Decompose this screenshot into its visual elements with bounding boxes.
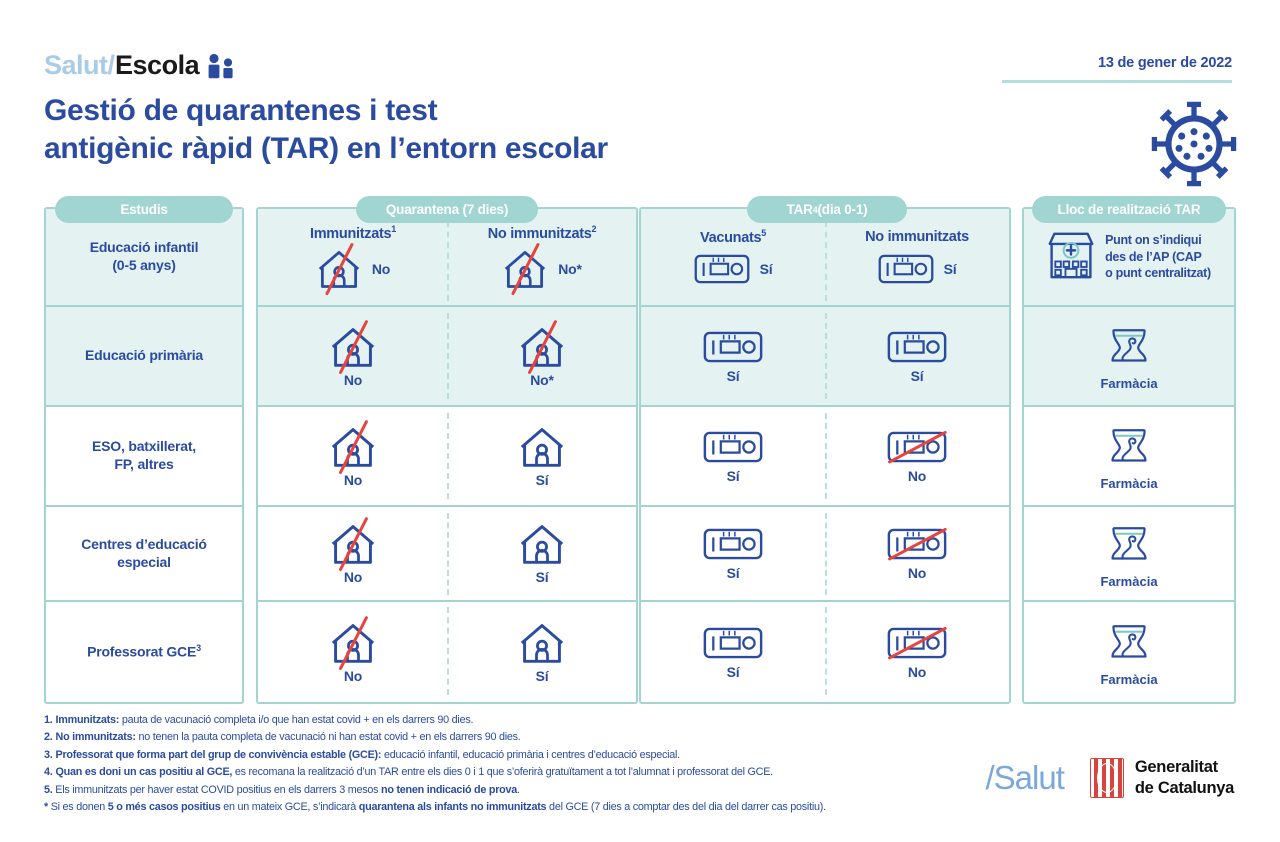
answer-text: No* — [558, 261, 582, 277]
footnote-1: 1.Immunitzats: pauta de vacunació comple… — [44, 712, 924, 729]
place-text-line1: Punt on s’indiqui — [1105, 232, 1211, 249]
row-divider — [641, 405, 1009, 407]
answer-text: No — [344, 472, 362, 488]
answer-text: Sí — [727, 468, 740, 484]
cell-quarantine-non-immunised: Sí — [448, 602, 636, 702]
cell-place: Farmàcia — [1024, 507, 1234, 600]
health-centre-icon — [1047, 229, 1095, 286]
cell-quarantine-non-immunised: Sí — [448, 407, 636, 505]
answer-text: Sí — [911, 368, 924, 384]
column-divider — [447, 413, 449, 499]
column-divider — [447, 313, 449, 399]
house-person-crossed-icon — [329, 425, 377, 469]
cell-study: Centres d’educació especial — [46, 507, 242, 600]
row-divider — [1024, 305, 1234, 307]
date-divider — [1002, 80, 1232, 83]
date-block: 13 de gener de 2022 — [1002, 55, 1232, 83]
answer-text: Sí — [727, 368, 740, 384]
generalitat-line1: Generalitat — [1135, 757, 1234, 778]
column-divider — [825, 313, 827, 399]
house-person-icon — [518, 621, 566, 665]
brand-logo: Salut / Escola — [44, 50, 236, 81]
answer-text: No — [344, 372, 362, 388]
place-text: Punt on s’indiqui des de l’AP (CAP o pun… — [1105, 232, 1211, 282]
table-row: Centres d’educació especial No — [44, 507, 1236, 600]
row-divider — [258, 405, 636, 407]
footnote-asterisk-bold-tail: quarantena als infants no immunitzats — [359, 801, 547, 813]
pharmacy-icon — [1107, 321, 1151, 372]
page-title-line1: Gestió de quarantenes i test — [44, 92, 608, 130]
antigen-test-icon — [703, 526, 763, 562]
antigen-test-crossed-icon — [887, 625, 947, 661]
answer-text: No — [908, 468, 926, 484]
antigen-test-icon: Sí — [878, 252, 957, 286]
cell-quarantine-non-immunised: No immunitzats2 No* — [448, 209, 636, 305]
pharmacy-icon — [1107, 519, 1151, 570]
footnote-1-bold: Immunitzats: — [56, 714, 120, 726]
page-header: Salut / Escola Gestió de quarantenes i t… — [0, 0, 1280, 190]
column-divider — [447, 607, 449, 695]
coronavirus-icon — [1150, 100, 1238, 193]
cell-study: Professorat GCE3 — [46, 602, 242, 702]
row-divider — [46, 305, 242, 307]
column-header-vacunats-label: Vacunats — [700, 229, 761, 245]
column-divider — [825, 607, 827, 695]
table-row: Educació primària No — [44, 307, 1236, 405]
page-title-line2: antigènic ràpid (TAR) en l’entorn escola… — [44, 130, 608, 168]
generalitat-text: Generalitat de Catalunya — [1135, 757, 1234, 799]
cell-tar-vaccinated: Sí — [641, 507, 825, 600]
row-divider — [1024, 505, 1234, 507]
footnote-3-text: educació infantil, educació primària i c… — [381, 749, 680, 761]
pharmacy-icon — [1107, 421, 1151, 472]
footnote-4-text: es recomana la realització d’un TAR entr… — [232, 766, 773, 778]
column-header-vacunats-sup: 5 — [761, 228, 766, 238]
antigen-test-crossed-icon — [887, 526, 947, 562]
brand-salut-text: Salut — [44, 50, 108, 81]
column-divider — [447, 513, 449, 595]
answer-text: Sí — [536, 569, 549, 585]
answer-text: Sí — [944, 261, 957, 277]
cell-tar-vaccinated: Sí — [641, 407, 825, 505]
footnote-asterisk-text-mid: en un mateix GCE, s’indicarà — [220, 801, 358, 813]
brand-slash: / — [108, 50, 116, 81]
cell-place: Farmàcia — [1024, 602, 1234, 702]
study-label-line1: ESO, batxillerat, — [92, 438, 196, 454]
group-pill-tar-tail: (dia 0-1) — [818, 202, 868, 217]
footnote-5-text: Els immunitzats per haver estat COVID po… — [53, 784, 381, 796]
answer-text: Sí — [536, 668, 549, 684]
table-row: Educació infantil (0-5 anys) Immunitzats… — [44, 209, 1236, 305]
study-label: Educació primària — [85, 347, 203, 365]
house-person-crossed-icon — [518, 325, 566, 369]
cell-tar-non-immunised: No — [825, 507, 1009, 600]
column-header-vacunats: Vacunats5 — [700, 228, 766, 246]
study-label-sup: 3 — [196, 643, 201, 653]
house-person-crossed-icon: No* — [502, 248, 582, 290]
quarantine-table: Estudis Quarantena (7 dies) TAR4 (dia 0-… — [44, 207, 1236, 704]
brand-escola-text: Escola — [115, 50, 199, 81]
footnote-2-num: 2. — [44, 731, 53, 743]
footnote-3: 3.Professorat que forma part del grup de… — [44, 747, 924, 764]
footnote-5-text-tail: . — [517, 784, 520, 796]
column-header-no-immunitzats-label: No immunitzats — [488, 225, 592, 241]
row-divider — [1024, 600, 1234, 602]
footnotes: 1.Immunitzats: pauta de vacunació comple… — [44, 712, 924, 817]
generalitat-logo: Generalitat de Catalunya — [1090, 757, 1234, 799]
answer-text: No* — [530, 372, 554, 388]
house-person-crossed-icon — [329, 621, 377, 665]
pharmacy-label: Farmàcia — [1100, 574, 1157, 589]
footnote-asterisk-text-tail: del GCE (7 dies a comptar des del dia de… — [546, 801, 826, 813]
cell-tar-non-immunised: No — [825, 602, 1009, 702]
cell-tar-vaccinated: Sí — [641, 307, 825, 405]
group-pill-quarantena: Quarantena (7 dies) — [356, 196, 538, 223]
group-pill-tar: TAR4 (dia 0-1) — [747, 196, 907, 223]
table-row: ESO, batxillerat, FP, altres No — [44, 407, 1236, 505]
answer-text: Sí — [727, 565, 740, 581]
footnote-3-num: 3. — [44, 749, 53, 761]
answer-text: No — [908, 664, 926, 680]
cell-quarantine-non-immunised: Sí — [448, 507, 636, 600]
cell-place: Farmàcia — [1024, 407, 1234, 505]
house-person-icon — [518, 425, 566, 469]
footnote-2: 2.No immunitzats: no tenen la pauta comp… — [44, 729, 924, 746]
antigen-test-icon — [703, 329, 763, 365]
study-label-line1: Centres d’educació — [81, 536, 207, 552]
house-person-crossed-icon — [329, 325, 377, 369]
footnote-5-num: 5. — [44, 784, 53, 796]
footnote-asterisk-bold-mid: 5 o més casos positius — [108, 801, 221, 813]
row-divider — [1024, 405, 1234, 407]
cell-tar-vaccinated: Sí — [641, 602, 825, 702]
footer-logos: /Salut Generalitat de Catalunya — [986, 757, 1235, 799]
row-divider — [258, 505, 636, 507]
group-pill-tar-label: TAR — [787, 202, 813, 217]
footnote-1-num: 1. — [44, 714, 53, 726]
pharmacy-label: Farmàcia — [1100, 672, 1157, 687]
pharmacy-label: Farmàcia — [1100, 376, 1157, 391]
row-divider — [641, 600, 1009, 602]
answer-text: No — [908, 565, 926, 581]
row-divider — [46, 405, 242, 407]
column-header-no-immunitzats: No immunitzats2 — [488, 224, 596, 242]
antigen-test-icon: Sí — [694, 252, 773, 286]
two-people-icon — [206, 53, 236, 79]
study-label-line1: Professorat GCE — [87, 643, 196, 659]
group-pill-estudis: Estudis — [55, 196, 233, 223]
cell-quarantine-immunised: No — [258, 307, 448, 405]
place-text-line3: o punt centralitzat) — [1105, 265, 1211, 282]
cell-study: Educació infantil (0-5 anys) — [46, 209, 242, 305]
column-header-tar-no-immunitzats: No immunitzats — [865, 229, 969, 245]
column-divider — [825, 513, 827, 595]
catalonia-shield-icon — [1090, 758, 1124, 798]
column-divider — [825, 413, 827, 499]
answer-text: Sí — [536, 472, 549, 488]
generalitat-line2: de Catalunya — [1135, 778, 1234, 799]
footnote-4: 4.Quan es doni un cas positiu al GCE, es… — [44, 764, 924, 781]
row-divider — [258, 305, 636, 307]
footnote-4-num: 4. — [44, 766, 53, 778]
study-label-line2: FP, altres — [114, 456, 173, 472]
cell-place: Farmàcia — [1024, 307, 1234, 405]
footnote-3-bold: Professorat que forma part del grup de c… — [56, 749, 382, 761]
cell-tar-vaccinated: Vacunats5 Sí — [641, 209, 825, 305]
column-divider — [447, 221, 449, 301]
study-label-line2: (0-5 anys) — [112, 257, 175, 273]
footnote-5-bold-tail: no tenen indicació de prova — [381, 784, 517, 796]
antigen-test-crossed-icon — [887, 429, 947, 465]
cell-quarantine-immunised: Immunitzats1 No — [258, 209, 448, 305]
answer-text: No — [344, 569, 362, 585]
cell-quarantine-immunised: No — [258, 602, 448, 702]
column-header-immunitzats: Immunitzats1 — [310, 224, 396, 242]
column-header-no-immunitzats-sup: 2 — [592, 224, 597, 234]
group-pill-lloc: Lloc de realització TAR — [1032, 196, 1226, 223]
antigen-test-icon — [703, 625, 763, 661]
column-divider — [825, 221, 827, 301]
antigen-test-icon — [703, 429, 763, 465]
cell-tar-non-immunised: No immunitzats Sí — [825, 209, 1009, 305]
cell-quarantine-non-immunised: No* — [448, 307, 636, 405]
cell-study: Educació primària — [46, 307, 242, 405]
study-label-line1: Educació infantil — [90, 239, 199, 255]
answer-text: Sí — [760, 261, 773, 277]
cell-tar-non-immunised: No — [825, 407, 1009, 505]
answer-text: No — [344, 668, 362, 684]
cell-study: ESO, batxillerat, FP, altres — [46, 407, 242, 505]
footnote-2-bold: No immunitzats: — [56, 731, 136, 743]
answer-text: No — [372, 261, 390, 277]
row-divider — [641, 305, 1009, 307]
footnote-1-text: pauta de vacunació completa i/o que han … — [119, 714, 473, 726]
footnote-5: 5. Els immunitzats per haver estat COVID… — [44, 782, 924, 799]
row-divider — [46, 505, 242, 507]
house-person-crossed-icon — [329, 522, 377, 566]
salut-logo: /Salut — [986, 759, 1064, 797]
page-title: Gestió de quarantenes i test antigènic r… — [44, 92, 608, 169]
house-person-crossed-icon: No — [316, 248, 390, 290]
cell-quarantine-immunised: No — [258, 407, 448, 505]
column-header-immunitzats-sup: 1 — [391, 224, 396, 234]
date-text: 13 de gener de 2022 — [1002, 55, 1232, 71]
row-divider — [258, 600, 636, 602]
house-person-icon — [518, 522, 566, 566]
table-row: Professorat GCE3 No — [44, 602, 1236, 702]
footnote-asterisk: * Si es donen 5 o més casos positius en … — [44, 799, 924, 816]
footnote-2-text: no tenen la pauta completa de vacunació … — [136, 731, 521, 743]
footnote-4-bold: Quan es doni un cas positiu al GCE, — [56, 766, 233, 778]
column-header-immunitzats-label: Immunitzats — [310, 225, 391, 241]
cell-place: Punt on s’indiqui des de l’AP (CAP o pun… — [1024, 209, 1234, 305]
pharmacy-icon — [1107, 617, 1151, 668]
study-label-line2: especial — [117, 554, 171, 570]
footnote-asterisk-text: Si es donen — [48, 801, 108, 813]
antigen-test-icon — [887, 329, 947, 365]
place-text-line2: des de l’AP (CAP — [1105, 249, 1211, 266]
pharmacy-label: Farmàcia — [1100, 476, 1157, 491]
row-divider — [641, 505, 1009, 507]
answer-text: Sí — [727, 664, 740, 680]
row-divider — [46, 600, 242, 602]
cell-tar-non-immunised: Sí — [825, 307, 1009, 405]
cell-quarantine-immunised: No — [258, 507, 448, 600]
